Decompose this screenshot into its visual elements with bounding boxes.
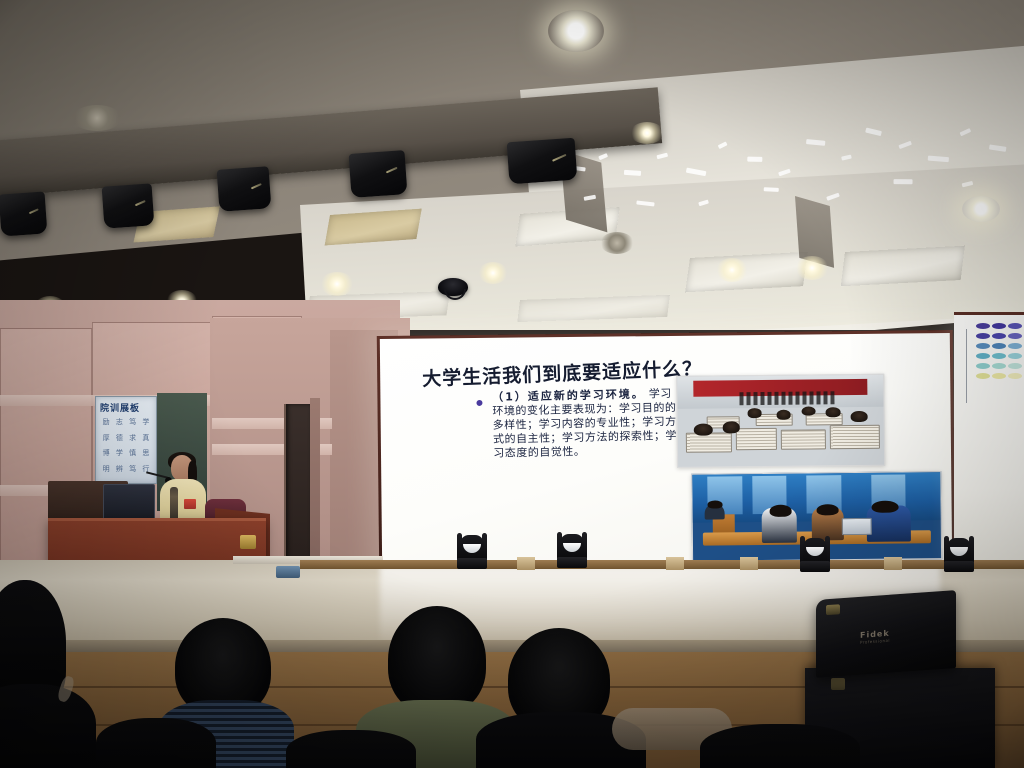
notice-board-title: 院训展板 [100, 401, 152, 415]
downlight-icon [630, 122, 664, 144]
downlight-icon [548, 10, 604, 52]
book-stack [830, 425, 880, 449]
color-swatch [976, 373, 990, 379]
notice-char: 思 [140, 450, 152, 465]
rail-block [884, 557, 902, 570]
presenter [160, 455, 206, 525]
audience-member [96, 718, 216, 768]
light-base [944, 561, 974, 572]
book-stack [781, 429, 827, 449]
color-swatch [1008, 333, 1022, 339]
notice-board-characters: 励 志 笃 学 厚 德 求 真 博 学 慎 思 明 辨 笃 行 [100, 419, 152, 480]
stage-light-fixture-icon [0, 191, 47, 236]
student-head [851, 411, 868, 422]
student-head [694, 423, 713, 436]
ceiling-camera-icon [438, 278, 468, 296]
stage-light-fixture-icon [507, 138, 578, 185]
student-head [826, 408, 841, 418]
library-student-hair [707, 500, 722, 508]
library-laptop [841, 518, 871, 535]
moving-head-light [800, 528, 830, 572]
bullet-point-icon [476, 400, 482, 406]
color-swatch [1008, 373, 1022, 379]
book-stack [686, 432, 732, 452]
color-swatch [976, 363, 990, 369]
color-swatch [976, 323, 990, 329]
moving-head-light [557, 524, 587, 568]
library-student-hair [769, 505, 791, 517]
stage-light-fixture-icon [102, 183, 155, 228]
rail-block [740, 557, 758, 570]
stage-monitor-speaker: Fidek Professional [816, 590, 956, 678]
student-head [723, 421, 740, 433]
notice-char: 真 [140, 435, 152, 450]
library-student-hair [817, 504, 839, 515]
student-head [776, 410, 791, 420]
library-student-hair [871, 500, 898, 513]
notice-char: 笃 [127, 466, 139, 481]
downlight-icon [962, 196, 1000, 222]
light-base [557, 557, 587, 568]
slide-title: 大学生活我们到底要适应什么？ [422, 354, 703, 392]
notice-char: 博 [100, 450, 112, 465]
color-swatch [1008, 323, 1022, 329]
notice-char: 德 [113, 435, 125, 450]
auditorium-photo: 院训展板 励 志 笃 学 厚 德 求 真 博 学 慎 思 明 辨 笃 行 [0, 0, 1024, 768]
moving-head-light [944, 528, 974, 572]
panel-vertical-rule [966, 329, 967, 403]
notice-char: 辨 [113, 466, 125, 481]
color-swatch [992, 353, 1006, 359]
student-head [801, 406, 816, 416]
color-swatch [992, 373, 1006, 379]
secondary-projection-panel [954, 312, 1024, 562]
photo-classroom-banner-text [739, 391, 834, 405]
notice-char: 慎 [127, 450, 139, 465]
notice-char: 明 [100, 466, 112, 481]
color-swatch [976, 353, 990, 359]
light-base [800, 561, 830, 572]
light-base [457, 558, 487, 569]
stage-light-fixture-icon [217, 166, 272, 212]
color-swatch [1008, 343, 1022, 349]
downlight-icon [320, 272, 354, 296]
notice-char: 学 [140, 419, 152, 434]
presenter-badge [184, 499, 196, 509]
stage-light-fixture-icon [349, 150, 408, 198]
notice-char: 励 [100, 419, 112, 434]
speaker-brand-label: Fidek Professional [860, 629, 890, 645]
rail-block [517, 557, 535, 570]
color-swatch [992, 363, 1006, 369]
color-swatch [1008, 363, 1022, 369]
speaker-corner-protector [826, 604, 840, 615]
rail-block [666, 557, 684, 570]
slide-photo-classroom [676, 374, 885, 468]
downlight-icon [716, 258, 748, 282]
color-swatch [1008, 353, 1022, 359]
notice-char: 志 [113, 419, 125, 434]
color-swatch [992, 323, 1006, 329]
audience-member [700, 724, 860, 768]
notice-char: 笃 [127, 419, 139, 434]
color-swatch-grid [976, 323, 1022, 381]
color-swatch [976, 333, 990, 339]
moving-head-light [457, 525, 487, 569]
stage-rail [300, 560, 1024, 569]
laptop-screen[interactable] [103, 484, 155, 520]
notice-char: 求 [127, 435, 139, 450]
ceiling [0, 0, 1024, 330]
audience-member [286, 730, 416, 768]
notice-char: 厚 [100, 435, 112, 450]
downlight-icon [478, 262, 508, 284]
speaker-brand-sub: Professional [860, 638, 890, 645]
downlight-icon [72, 105, 122, 131]
notice-char: 学 [113, 450, 125, 465]
color-swatch [976, 343, 990, 349]
book-stack [735, 428, 776, 450]
color-swatch [992, 343, 1006, 349]
audience-member-head [388, 606, 486, 714]
small-stool [276, 566, 300, 578]
downlight-icon [600, 232, 634, 254]
slide-body-text: （1）适应新的学习环境。 学习环境的变化主要表现为：学习目的的多样性；学习内容的… [492, 387, 683, 461]
downlight-icon [795, 256, 829, 280]
ceiling-coffer-5 [841, 246, 965, 287]
water-bottle [170, 487, 178, 519]
color-swatch [992, 333, 1006, 339]
audience-member [0, 684, 96, 768]
